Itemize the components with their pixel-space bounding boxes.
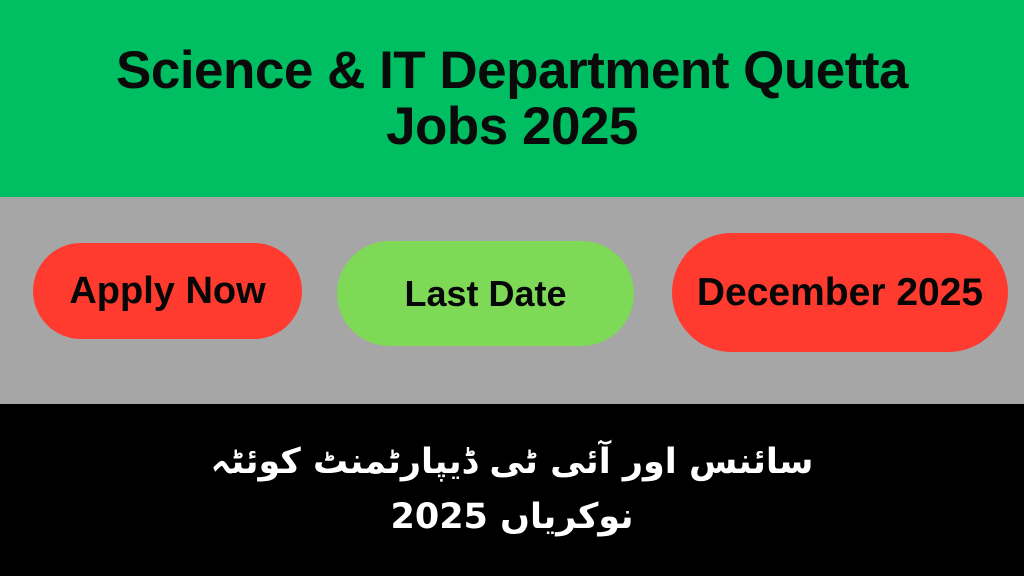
apply-now-button[interactable]: Apply Now	[33, 243, 302, 339]
last-date-value-label: December 2025	[697, 271, 983, 315]
urdu-title-line-2: نوکریاں 2025	[391, 492, 634, 543]
apply-now-label: Apply Now	[69, 270, 265, 313]
header-band: Science & IT Department Quetta Jobs 2025	[0, 0, 1024, 197]
last-date-badge[interactable]: Last Date	[337, 241, 634, 346]
footer-band: سائنس اور آئی ٹی ڈیپارٹمنٹ کوئٹہ نوکریاں…	[0, 404, 1024, 576]
page-title: Science & IT Department Quetta Jobs 2025	[22, 43, 1002, 154]
urdu-title-line-1: سائنس اور آئی ٹی ڈیپارٹمنٹ کوئٹہ	[211, 437, 814, 488]
job-poster: Science & IT Department Quetta Jobs 2025…	[0, 0, 1024, 576]
pill-band: Apply Now Last Date December 2025	[0, 197, 1024, 404]
last-date-label: Last Date	[404, 273, 566, 315]
last-date-value-badge[interactable]: December 2025	[672, 233, 1008, 352]
